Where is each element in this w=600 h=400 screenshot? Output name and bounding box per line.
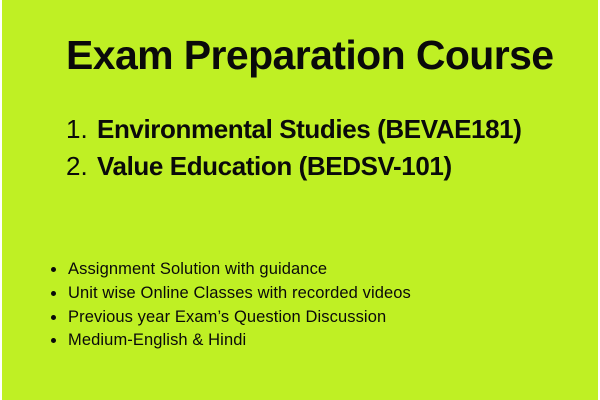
course-list-item: 2. Value Education (BEDSV-101): [66, 149, 571, 184]
page-title: Exam Preparation Course: [66, 33, 566, 77]
feature-list-item: Previous year Exam’s Question Discussion: [48, 306, 568, 330]
feature-text: Medium-English & Hindi: [68, 331, 246, 349]
feature-text: Unit wise Online Classes with recorded v…: [68, 284, 411, 302]
feature-text: Assignment Solution with guidance: [68, 260, 327, 278]
feature-list-item: Unit wise Online Classes with recorded v…: [48, 282, 568, 306]
feature-list: Assignment Solution with guidance Unit w…: [48, 258, 568, 353]
course-list: 1. Environmental Studies (BEVAE181) 2. V…: [66, 112, 571, 185]
promo-poster: Exam Preparation Course 1. Environmental…: [0, 0, 600, 400]
bullet-dot-icon: [51, 315, 56, 320]
bullet-dot-icon: [51, 338, 56, 343]
course-number-marker: 1.: [66, 112, 88, 147]
feature-list-item: Medium-English & Hindi: [48, 329, 568, 353]
feature-list-item: Assignment Solution with guidance: [48, 258, 568, 282]
course-list-item: 1. Environmental Studies (BEVAE181): [66, 112, 571, 147]
course-number-marker: 2.: [66, 149, 88, 184]
feature-text: Previous year Exam’s Question Discussion: [68, 308, 386, 326]
course-name: Environmental Studies (BEVAE181): [97, 112, 571, 147]
bullet-dot-icon: [51, 267, 56, 272]
course-name: Value Education (BEDSV-101): [97, 149, 571, 184]
bullet-dot-icon: [51, 291, 56, 296]
